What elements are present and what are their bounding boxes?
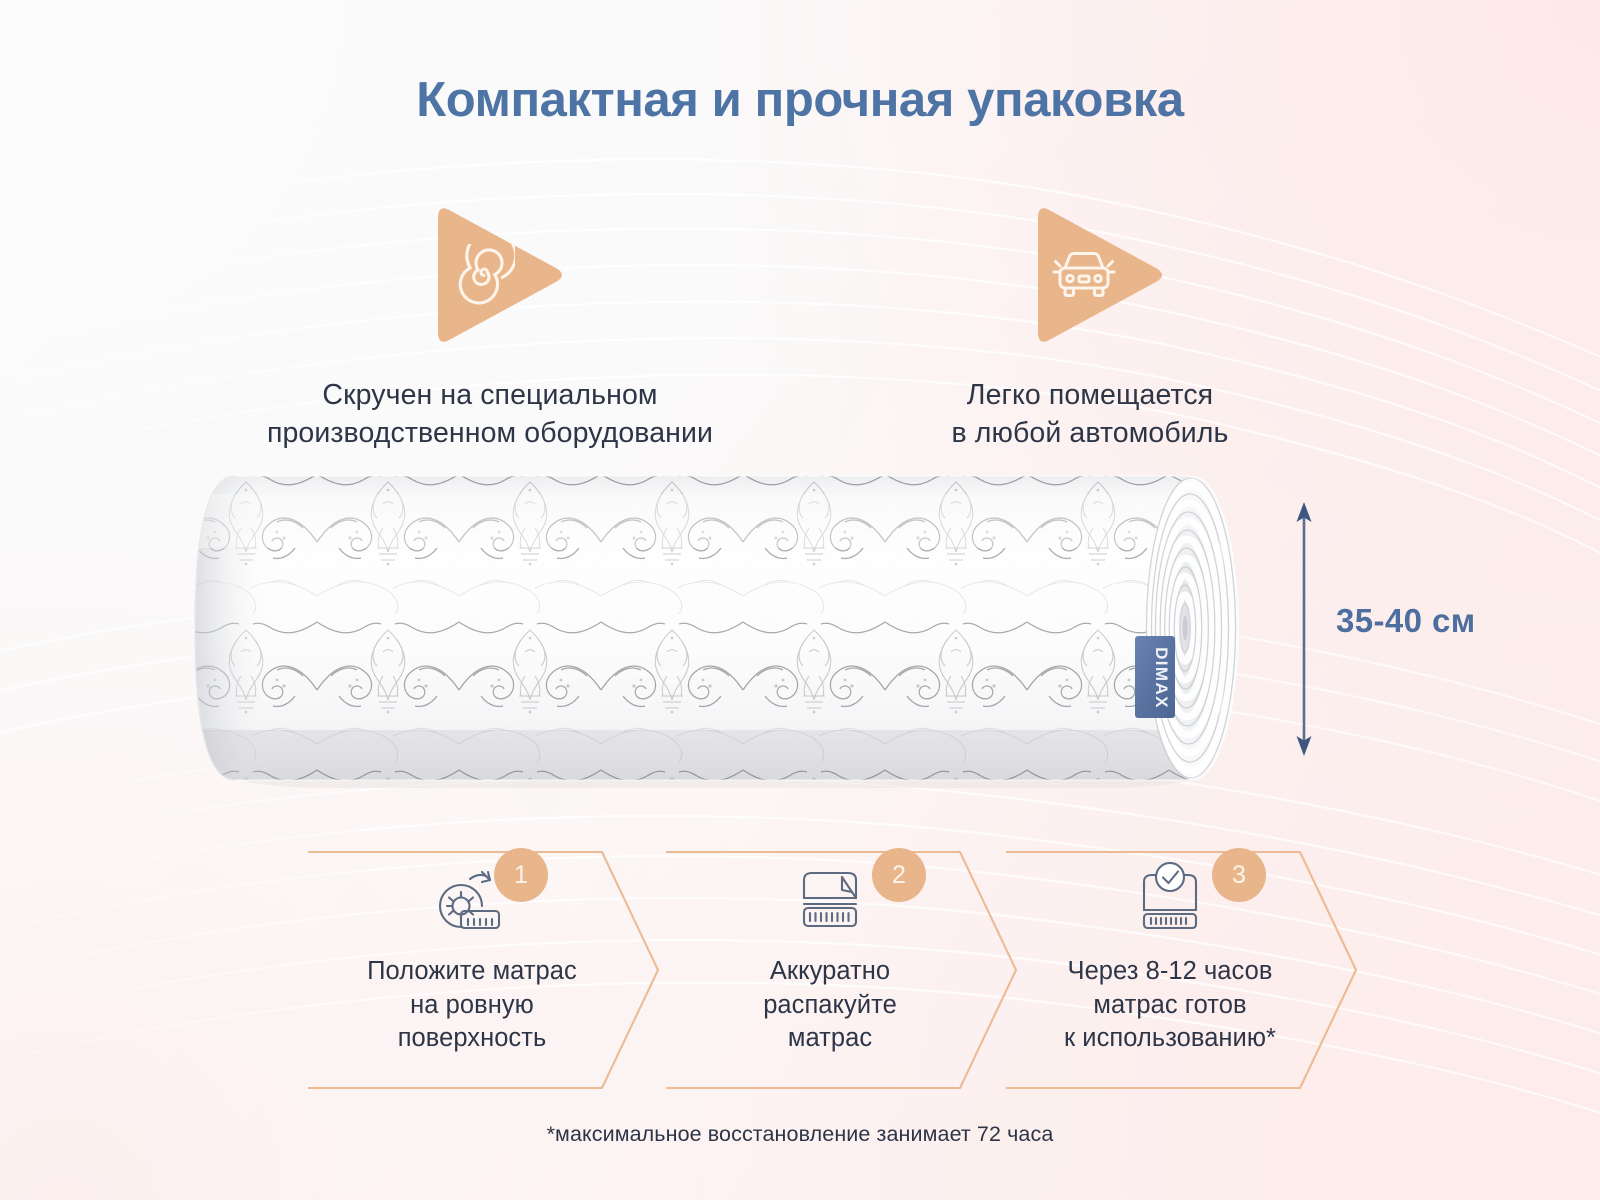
spiral-roll-icon — [410, 200, 570, 350]
page-title: Компактная и прочная упаковка — [0, 74, 1600, 128]
car-front-icon — [1010, 200, 1170, 350]
step-3: Через 8-12 часов матрас готов к использо… — [1000, 846, 1393, 1094]
step-2-text: Аккуратно распакуйте матрас — [763, 955, 897, 1056]
steps-row: Положите матрас на ровную поверхность 1 — [0, 846, 1600, 1096]
mattress-check-icon — [1130, 858, 1210, 942]
step-1-number-badge: 1 — [494, 848, 548, 902]
step-3-content: Через 8-12 часов матрас готов к использо… — [1000, 846, 1340, 1094]
step-3-text: Через 8-12 часов матрас готов к использо… — [1064, 955, 1276, 1056]
step-2-line2: распакуйте — [763, 989, 897, 1023]
feature-triangle-badge-2 — [1010, 200, 1170, 350]
rolled-mattress-graphic: DIMAX — [175, 468, 1285, 788]
brand-tag: DIMAX — [1135, 636, 1175, 718]
step-1: Положите матрас на ровную поверхность 1 — [302, 846, 695, 1094]
step-2-number-badge: 2 — [872, 848, 926, 902]
feature-block-rolled: Скручен на специальном производственном … — [190, 200, 790, 452]
feature-text-1: Скручен на специальном производственном … — [190, 376, 790, 452]
feature-text-1-line1: Скручен на специальном — [190, 376, 790, 414]
step-3-line2: матрас готов — [1064, 989, 1276, 1023]
dimension-callout: 35-40 см — [1288, 498, 1548, 760]
step-1-text: Положите матрас на ровную поверхность — [367, 955, 577, 1056]
step-1-line2: на ровную — [367, 989, 577, 1023]
feature-text-2: Легко помещается в любой автомобиль — [790, 376, 1390, 452]
rolled-mattress-image: DIMAX — [175, 468, 1285, 788]
step-2-content: Аккуратно распакуйте матрас — [660, 846, 1000, 1094]
step-1-content: Положите матрас на ровную поверхность — [302, 846, 642, 1094]
step-3-line3: к использованию* — [1064, 1022, 1276, 1056]
feature-text-1-line2: производственном оборудовании — [190, 414, 790, 452]
footnote-text: *максимальное восстановление занимает 72… — [0, 1122, 1600, 1147]
mattress-unpack-icon — [790, 858, 870, 942]
svg-text:DIMAX: DIMAX — [1152, 647, 1171, 709]
feature-text-2-line1: Легко помещается — [790, 376, 1390, 414]
step-3-number-badge: 3 — [1212, 848, 1266, 902]
step-3-line1: Через 8-12 часов — [1064, 955, 1276, 989]
feature-triangle-badge-1 — [410, 200, 570, 350]
feature-block-car: Легко помещается в любой автомобиль — [790, 200, 1390, 452]
infographic-stage: Компактная и прочная упаковка Скручен на… — [0, 0, 1600, 1200]
dimension-label: 35-40 см — [1336, 602, 1476, 640]
step-1-line3: поверхность — [367, 1022, 577, 1056]
step-2: Аккуратно распакуйте матрас 2 — [660, 846, 1053, 1094]
step-2-line3: матрас — [763, 1022, 897, 1056]
step-2-line1: Аккуратно — [763, 955, 897, 989]
step-1-line1: Положите матрас — [367, 955, 577, 989]
feature-text-2-line2: в любой автомобиль — [790, 414, 1390, 452]
